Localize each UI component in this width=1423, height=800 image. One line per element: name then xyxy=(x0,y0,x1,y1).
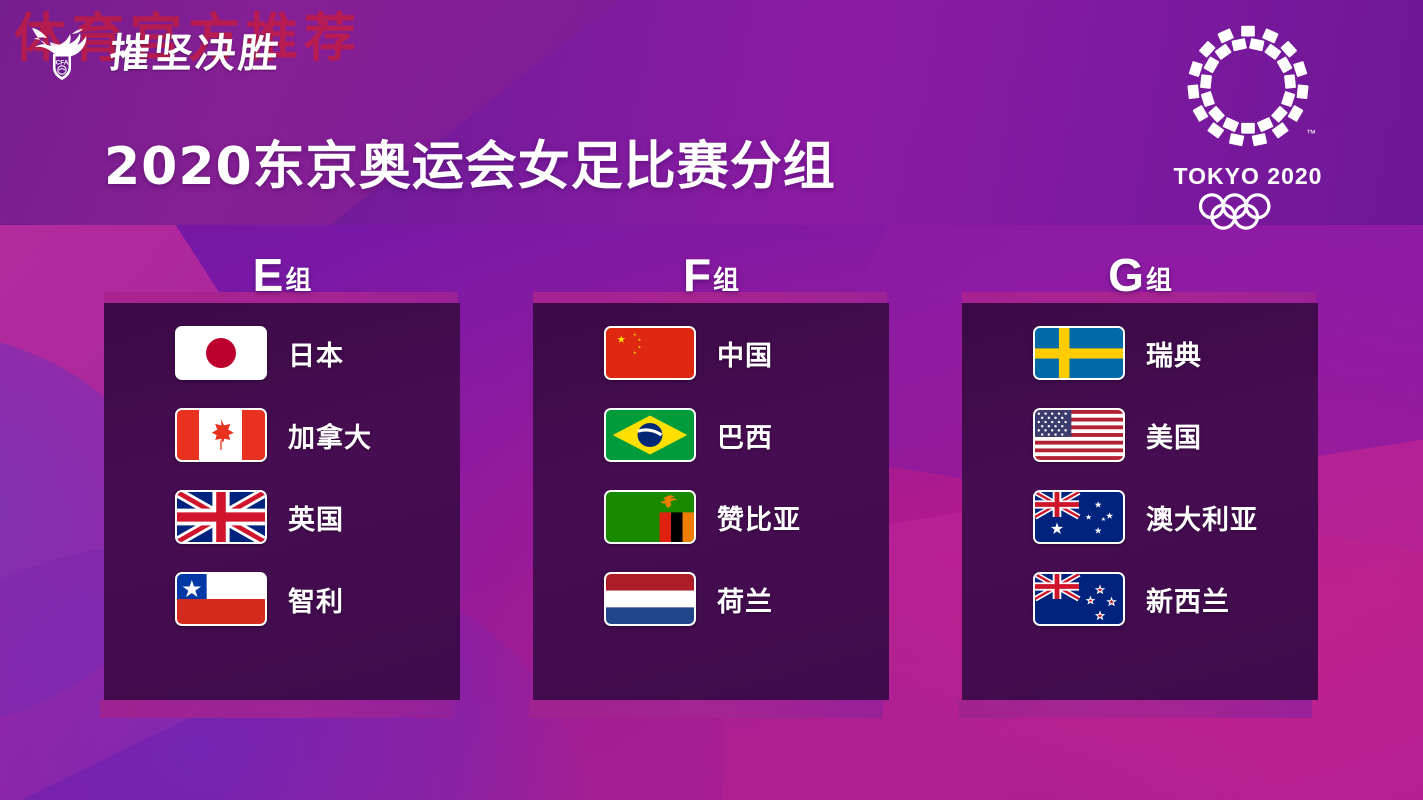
team-row[interactable]: 荷兰 xyxy=(533,558,889,640)
group-label-g: G组 xyxy=(962,248,1318,302)
team-name: 美国 xyxy=(1146,416,1202,455)
team-row[interactable]: 加拿大 xyxy=(104,394,460,476)
group-suffix: 组 xyxy=(285,266,311,296)
group-letter: E xyxy=(253,249,284,301)
group-letter: F xyxy=(683,249,711,301)
flag-usa-icon xyxy=(1033,408,1125,462)
card-bottom-accent-bar xyxy=(958,700,1312,718)
flag-japan-icon xyxy=(175,326,267,380)
page-title: 2020东京奥运会女足比赛分组 xyxy=(104,124,836,199)
team-name: 瑞典 xyxy=(1146,334,1202,373)
group-label-f: F组 xyxy=(533,248,889,302)
team-row[interactable]: 赞比亚 xyxy=(533,476,889,558)
flag-chile-icon xyxy=(175,572,267,626)
flag-zambia-icon xyxy=(604,490,696,544)
team-name: 加拿大 xyxy=(288,416,372,455)
team-row[interactable]: 美国 xyxy=(962,394,1318,476)
flag-great-britain-icon xyxy=(175,490,267,544)
team-row[interactable]: 智利 xyxy=(104,558,460,640)
team-row[interactable]: 瑞典 xyxy=(962,312,1318,394)
team-name: 巴西 xyxy=(717,416,773,455)
group-suffix: 组 xyxy=(1146,266,1172,296)
svg-text:™: ™ xyxy=(1306,129,1316,140)
flag-sweden-icon xyxy=(1033,326,1125,380)
group-letter: G xyxy=(1108,249,1144,301)
flag-netherlands-icon xyxy=(604,572,696,626)
olympic-rings-icon xyxy=(1153,192,1343,235)
flag-australia-icon xyxy=(1033,490,1125,544)
flag-new-zealand-icon xyxy=(1033,572,1125,626)
phoenix-emblem-icon: CFA xyxy=(20,12,104,88)
team-row[interactable]: 英国 xyxy=(104,476,460,558)
group-suffix: 组 xyxy=(713,266,739,296)
team-name: 智利 xyxy=(288,580,344,619)
group-label-e: E组 xyxy=(104,248,460,302)
card-bottom-accent-bar xyxy=(100,700,454,718)
card-body-g: 瑞典 xyxy=(962,303,1318,700)
card-body-f: 中国 巴西 xyxy=(533,303,889,700)
team-name: 英国 xyxy=(288,498,344,537)
flag-canada-icon xyxy=(175,408,267,462)
team-row[interactable]: 日本 xyxy=(104,312,460,394)
team-row[interactable]: 巴西 xyxy=(533,394,889,476)
team-row[interactable]: 中国 xyxy=(533,312,889,394)
group-cards-container: E组 日本 xyxy=(0,250,1423,750)
team-row[interactable]: 澳大利亚 xyxy=(962,476,1318,558)
tokyo-2020-emblem-icon: ™ xyxy=(1153,18,1343,159)
poster-canvas: 体育官方推荐 CFA 摧坚决胜 xyxy=(0,0,1423,800)
tokyo-2020-emblem: ™ TOKYO 2020 xyxy=(1153,18,1343,235)
team-name: 荷兰 xyxy=(717,580,773,619)
card-bottom-accent-bar xyxy=(529,700,883,718)
card-body-e: 日本 加拿大 xyxy=(104,303,460,700)
team-name: 澳大利亚 xyxy=(1146,498,1258,537)
team-name: 中国 xyxy=(717,334,773,373)
team-row[interactable]: 新西兰 xyxy=(962,558,1318,640)
tokyo-2020-wordmark: TOKYO 2020 xyxy=(1153,163,1343,190)
team-name: 日本 xyxy=(288,334,344,373)
team-name: 赞比亚 xyxy=(717,498,801,537)
flag-china-icon xyxy=(604,326,696,380)
team-name: 新西兰 xyxy=(1146,580,1230,619)
brand-logo: CFA 摧坚决胜 xyxy=(20,12,282,88)
brand-logo-text: 摧坚决胜 xyxy=(107,21,285,79)
flag-brazil-icon xyxy=(604,408,696,462)
